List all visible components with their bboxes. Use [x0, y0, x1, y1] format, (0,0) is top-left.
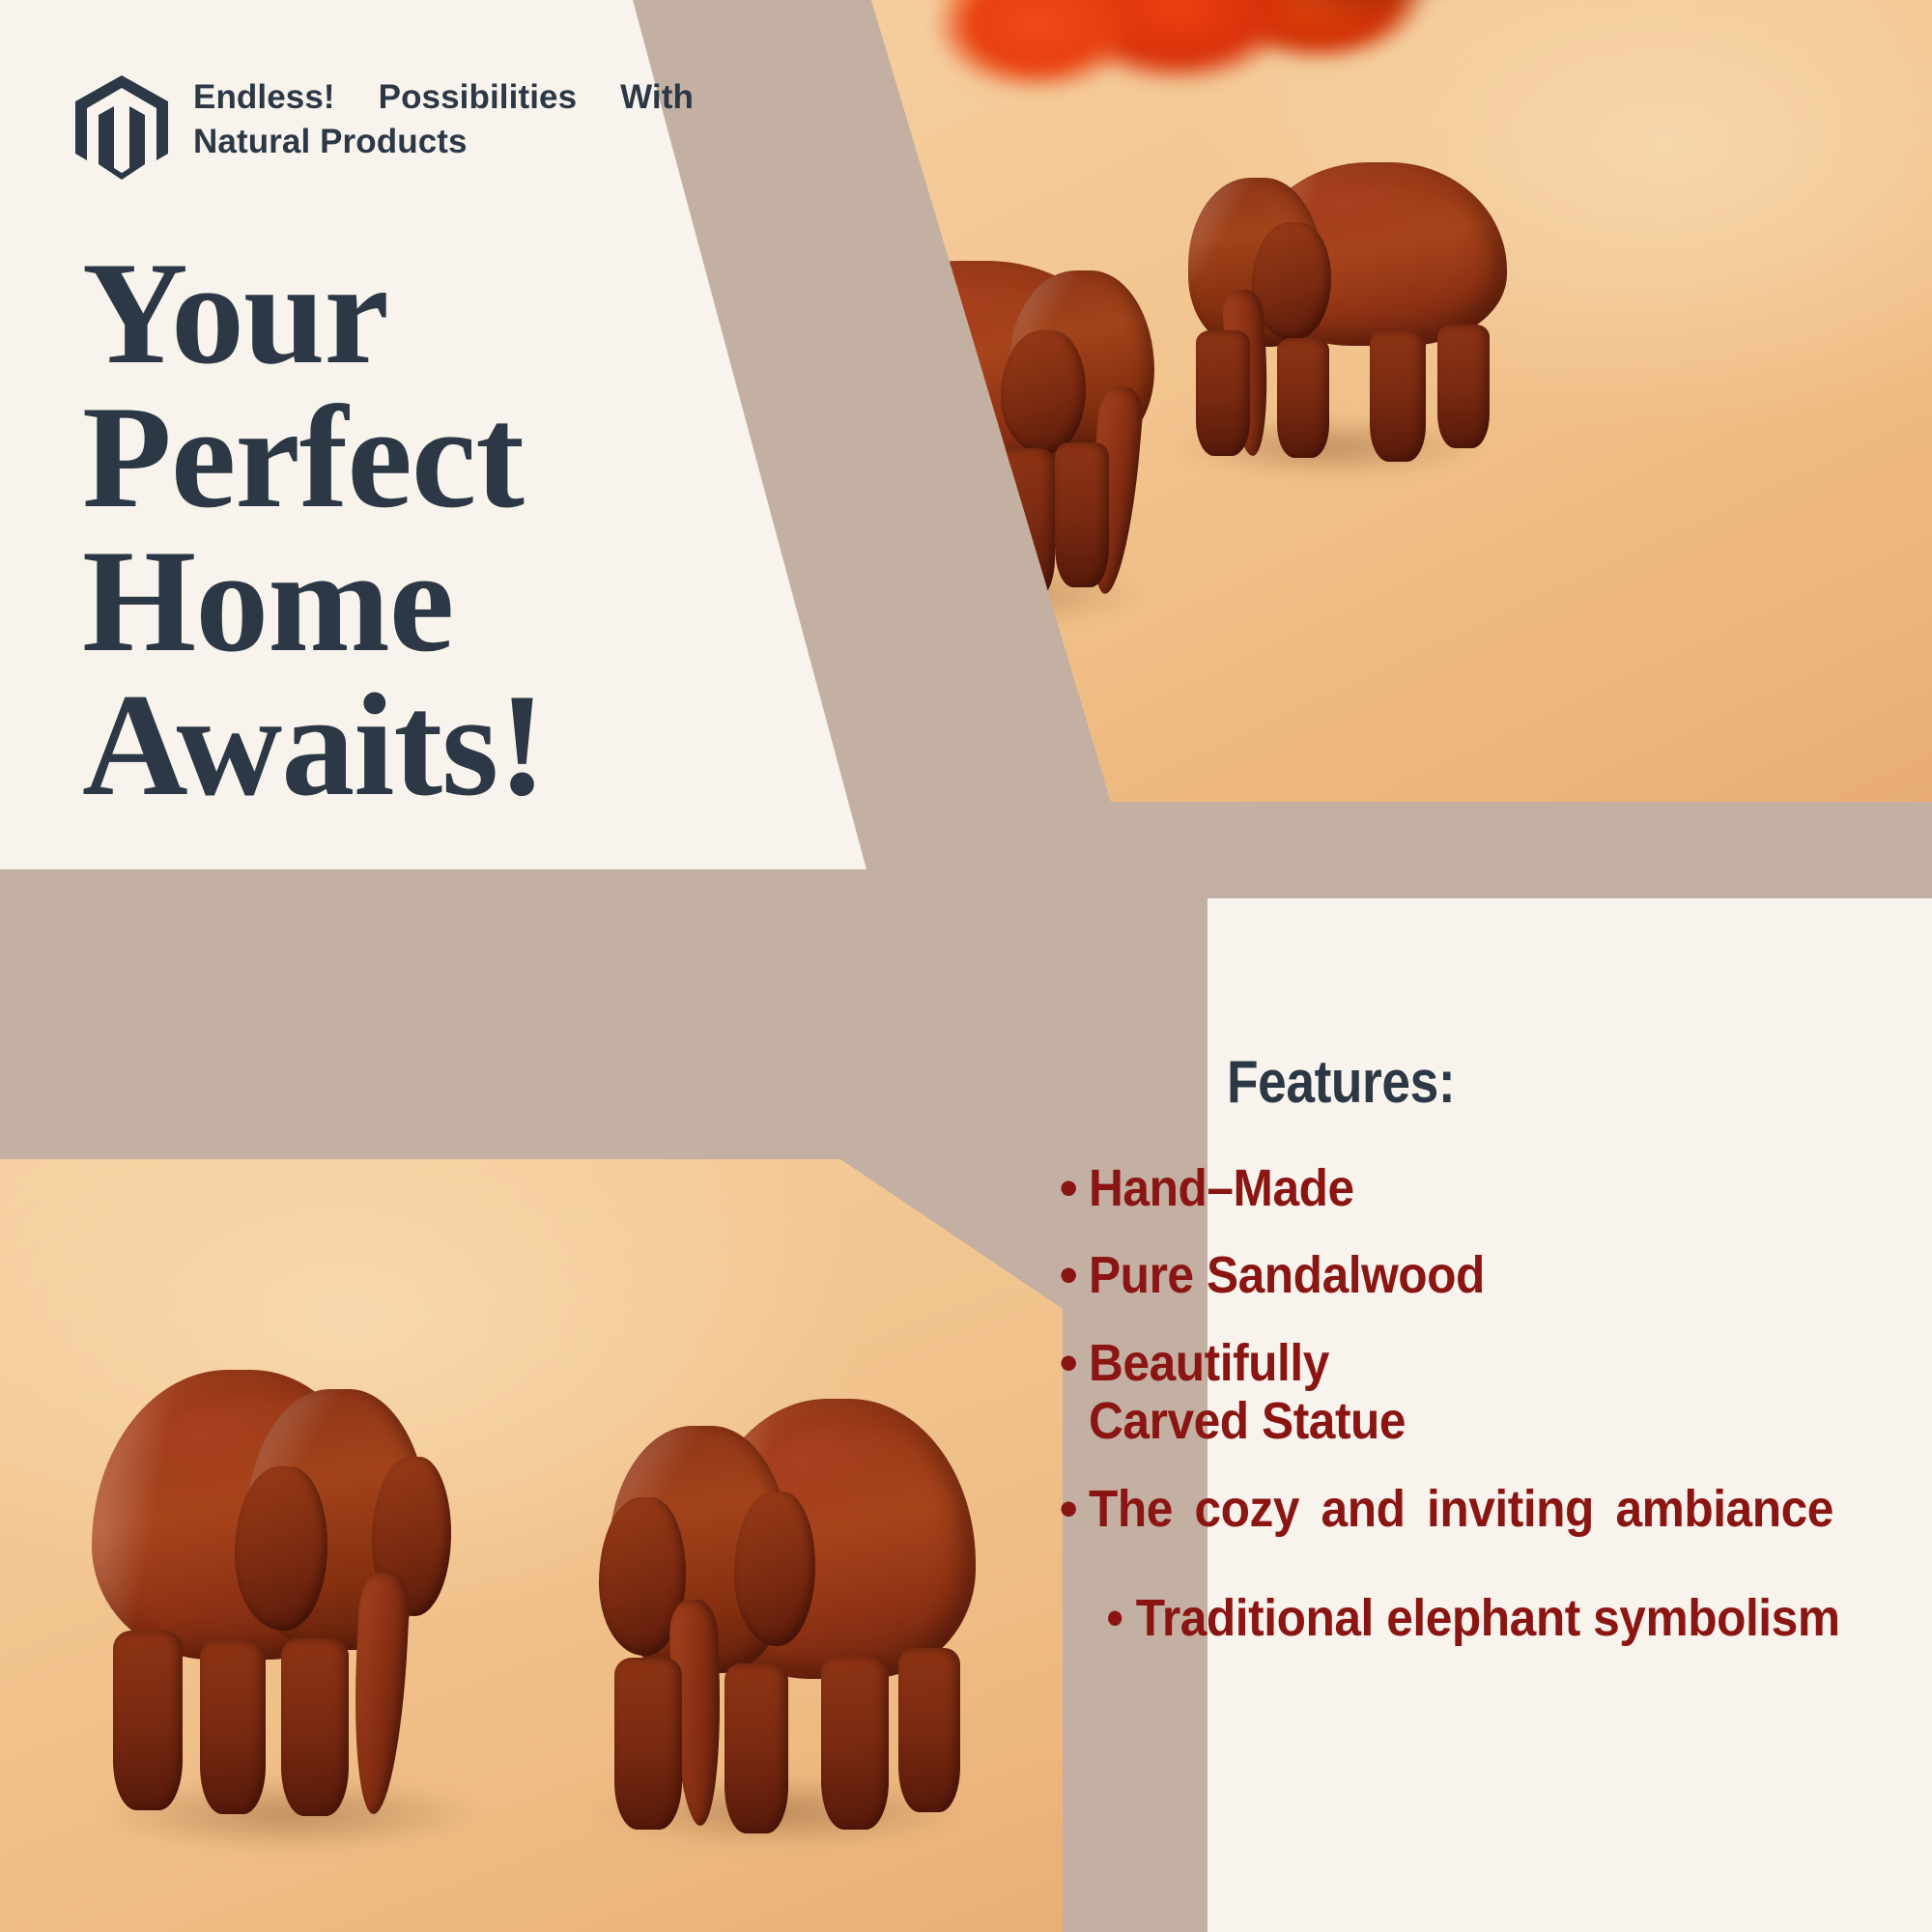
elephant-leg: [113, 1631, 183, 1810]
feature-item: • The cozy and inviting ambiance: [1048, 1480, 1898, 1538]
tagline-line-1: Endless! Possibilities With: [193, 75, 694, 120]
page-title: Your Perfect Home Awaits!: [82, 241, 700, 817]
feature-label: Pure Sandalwood: [1089, 1246, 1833, 1304]
elephant-leg: [1437, 325, 1490, 448]
elephant-leg: [1370, 330, 1426, 462]
bullet-icon: •: [1048, 1334, 1089, 1451]
brand-tagline: Endless! Possibilities With Natural Prod…: [193, 75, 694, 163]
feature-item: • Beautifully Carved Statue: [1048, 1334, 1898, 1451]
bullet-icon: •: [1048, 1246, 1089, 1304]
features-list: • Hand–Made • Pure Sandalwood • Beautifu…: [1048, 1159, 1898, 1677]
feature-label: Beautifully Carved Statue: [1089, 1334, 1833, 1451]
elephant-leg: [281, 1638, 349, 1816]
elephant-ear: [235, 1466, 327, 1631]
magento-hexagon-m-logo-icon: [75, 75, 168, 180]
headline-line-2: Perfect: [82, 385, 700, 529]
bullet-icon: •: [1048, 1159, 1089, 1217]
elephant-leg: [1277, 338, 1329, 458]
feature-item: • Hand–Made: [1048, 1159, 1898, 1217]
feature-label: Traditional elephant symbolism: [1136, 1589, 1840, 1647]
elephant-leg: [898, 1648, 960, 1812]
elephant-leg: [821, 1656, 889, 1830]
elephant-leg: [614, 1658, 682, 1830]
headline-line-1: Your: [82, 241, 700, 385]
elephant-statue-left: [92, 1360, 507, 1843]
flower-center-shadow: [1188, 0, 1517, 39]
bullet-icon: •: [1048, 1480, 1089, 1538]
feature-label: The cozy and inviting ambiance: [1089, 1480, 1833, 1538]
elephant-leg: [724, 1663, 788, 1833]
bullet-icon: •: [1106, 1589, 1122, 1647]
tagline-line-2: Natural Products: [193, 120, 694, 164]
feature-label: Hand–Made: [1089, 1159, 1833, 1217]
feature-item: • Traditional elephant symbolism: [1082, 1588, 1864, 1648]
elephant-ear: [734, 1492, 815, 1646]
brand-row: Endless! Possibilities With Natural Prod…: [75, 75, 694, 180]
headline-line-3: Home: [82, 529, 700, 673]
elephant-leg: [1055, 442, 1109, 587]
elephant-statue-right: [580, 1391, 995, 1845]
elephant-ear: [1001, 330, 1086, 454]
promotional-poster: Endless! Possibilities With Natural Prod…: [0, 0, 1932, 1932]
headline-line-4: Awaits!: [82, 673, 700, 817]
elephant-leg: [200, 1640, 266, 1814]
feature-item: • Pure Sandalwood: [1048, 1246, 1898, 1304]
elephant-statue-back: [1169, 145, 1517, 473]
features-heading: Features:: [1227, 1048, 1455, 1117]
elephant-leg: [1196, 330, 1250, 456]
